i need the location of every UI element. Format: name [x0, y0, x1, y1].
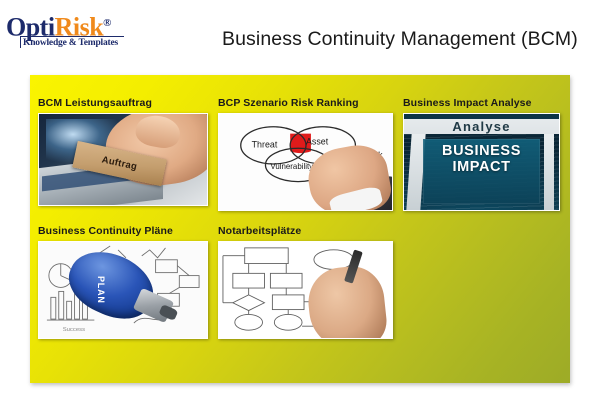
- tile-bcm-leistungsauftrag[interactable]: BCM Leistungsauftrag Auftrag: [38, 97, 208, 206]
- svg-text:Vulnerability: Vulnerability: [270, 162, 313, 171]
- tile-label: BCP Szenario Risk Ranking: [218, 97, 393, 109]
- svg-text:Success: Success: [63, 327, 85, 333]
- thumbnail-plan-lightbulb[interactable]: Success PLAN: [38, 241, 208, 339]
- thumbnail-auftrag[interactable]: Auftrag: [38, 113, 208, 206]
- svg-text:Threat: Threat: [252, 139, 278, 149]
- tile-notarbeitsplaetze[interactable]: Notarbeitsplätze: [218, 225, 393, 339]
- tile-business-continuity-plaene[interactable]: Business Continuity Pläne: [38, 225, 208, 339]
- impact-line-2: IMPACT: [404, 159, 559, 176]
- thumbnail-venn-diagram[interactable]: Threat Asset Vulnerability Risk: [218, 113, 393, 211]
- stamp-label: Auftrag: [101, 155, 138, 173]
- impact-line-1: BUSINESS: [404, 143, 559, 160]
- tile-label: Notarbeitsplätze: [218, 225, 393, 237]
- logo-tagline: Knowledge & Templates: [20, 36, 124, 48]
- business-impact-text: BUSINESS IMPACT: [404, 143, 559, 176]
- tile-bcp-szenario-risk-ranking[interactable]: BCP Szenario Risk Ranking Threat Asset V…: [218, 97, 393, 211]
- tile-label: BCM Leistungsauftrag: [38, 97, 208, 109]
- page-title: Business Continuity Management (BCM): [222, 28, 597, 51]
- tile-label: Business Continuity Pläne: [38, 225, 208, 237]
- slide: OptiRisk® Knowledge & Templates Business…: [0, 0, 600, 400]
- svg-text:Asset: Asset: [306, 136, 329, 146]
- slide-header: OptiRisk® Knowledge & Templates Business…: [0, 0, 600, 72]
- tile-label: Business Impact Analyse: [403, 97, 560, 109]
- optirisk-logo: OptiRisk® Knowledge & Templates: [6, 10, 122, 50]
- bulb-label: PLAN: [96, 276, 106, 304]
- thumbnail-flowchart[interactable]: [218, 241, 393, 339]
- analyse-heading: Analyse: [404, 118, 559, 135]
- registered-trademark-icon: ®: [103, 17, 111, 29]
- content-panel: BCM Leistungsauftrag Auftrag BCP Szenari…: [30, 75, 570, 383]
- thumbnail-business-impact[interactable]: Analyse BUSINESS IMPACT: [403, 113, 560, 211]
- tile-business-impact-analyse[interactable]: Business Impact Analyse Analyse BUSINESS…: [403, 97, 560, 211]
